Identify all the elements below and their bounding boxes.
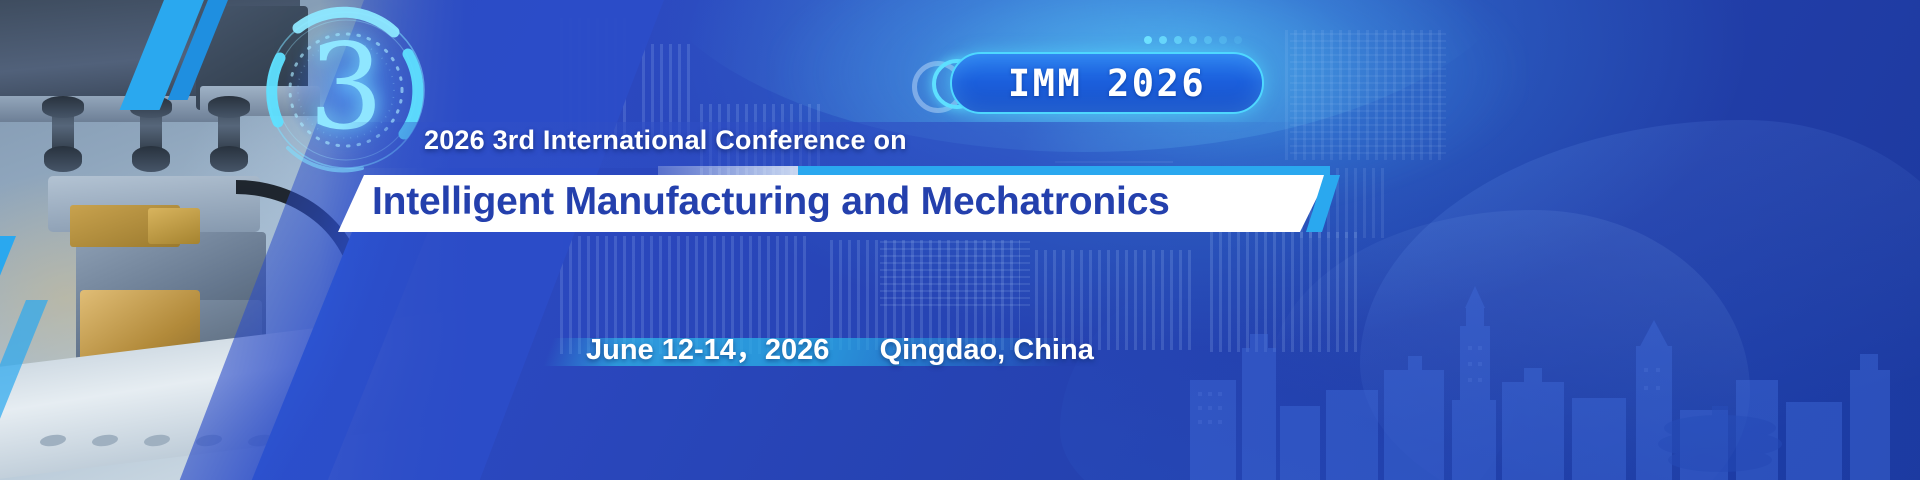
circuit-texture	[880, 236, 1030, 306]
title-accent-dim	[658, 166, 800, 175]
date-location-block: June 12-14，2026 Qingdao, China	[548, 326, 1068, 368]
wave-shape-a	[1360, 120, 1920, 480]
badge-pill: IMM 2026	[950, 52, 1264, 114]
badge-label: IMM 2026	[1008, 62, 1206, 105]
conference-banner: 3 IMM 2026 2026 3rd International Confer…	[0, 0, 1920, 480]
conference-date: June 12-14，2026	[586, 334, 829, 366]
badge-dot-row	[1144, 36, 1242, 44]
imm-badge: IMM 2026	[912, 52, 1264, 114]
conference-title: Intelligent Manufacturing and Mechatroni…	[372, 180, 1170, 224]
conference-subtitle: 2026 3rd International Conference on	[424, 125, 907, 156]
title-accent-bar	[798, 166, 1330, 175]
circuit-texture	[1210, 232, 1360, 352]
wave-shape-b	[1270, 210, 1750, 480]
conference-location: Qingdao, China	[880, 334, 1094, 366]
title-block: Intelligent Manufacturing and Mechatroni…	[328, 166, 1328, 232]
wave-shape-c	[1060, 250, 1520, 480]
date-location-text: June 12-14，2026 Qingdao, China	[586, 326, 1094, 368]
city-skyline-icon	[1180, 230, 1920, 480]
